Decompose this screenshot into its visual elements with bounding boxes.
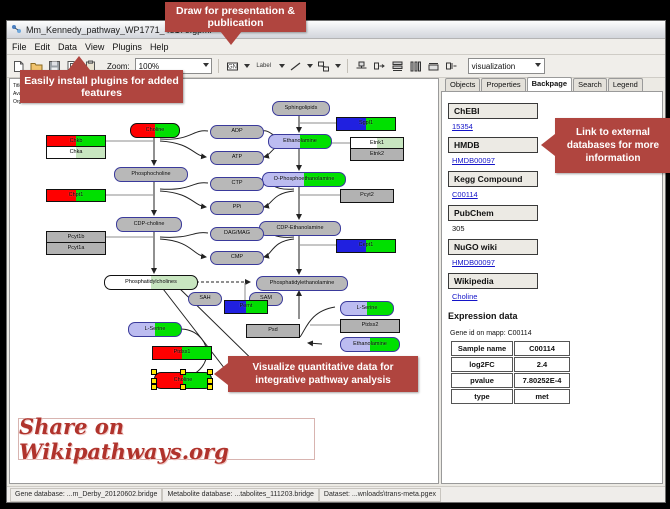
metabolite-node[interactable]: CMP (210, 251, 264, 265)
svg-text:GN: GN (228, 64, 237, 70)
side-panel-tabs: Objects Properties Backpage Search Legen… (441, 78, 663, 91)
align-icon[interactable] (354, 59, 369, 74)
metabolite-node[interactable]: CDP-Ethanolamine (259, 221, 341, 236)
line-icon[interactable] (288, 59, 303, 74)
gene-node[interactable]: Pcyt2 (340, 189, 394, 203)
metabolite-node[interactable]: Phosphocholine (114, 167, 188, 182)
expression-key: type (451, 389, 513, 404)
node-label: CDP-Ethanolamine (276, 226, 323, 232)
node-label: Psd (268, 328, 277, 334)
selection-handle[interactable] (151, 378, 157, 384)
database-header: Kegg Compound (448, 171, 538, 187)
metabolite-node[interactable]: Phosphatidylcholines (104, 275, 198, 290)
node-label: SAH (199, 296, 210, 302)
node-label: DAG/MAG (224, 231, 250, 237)
callout-links: Link to external databases for more info… (555, 118, 670, 173)
metabolite-node[interactable]: Phosphatidylethanolamine (256, 276, 348, 291)
node-label: Phosphatidylethanolamine (270, 281, 335, 287)
screenshot-root: Mm_Kennedy_pathway_WP1771_45176.gpml Fil… (0, 0, 670, 509)
table-row: pvalue7.80252E-4 (451, 373, 570, 388)
database-link[interactable]: C00114 (452, 190, 656, 199)
menu-item-plugins[interactable]: Plugins (112, 42, 142, 52)
gene-node[interactable]: Ptdss1 (152, 346, 212, 360)
gene-node[interactable]: Sgpl1 (336, 117, 396, 131)
expression-table: Sample nameC00114log2FC2.4pvalue7.80252E… (450, 340, 571, 405)
node-label: Cept1 (359, 243, 374, 249)
bring-front-icon[interactable] (444, 59, 459, 74)
metabolite-node[interactable]: SAH (188, 292, 222, 306)
expression-value: met (514, 389, 570, 404)
expression-value: 7.80252E-4 (514, 373, 570, 388)
metabolite-node[interactable]: Choline (130, 123, 180, 138)
metabolite-node[interactable]: L-Serine (128, 322, 182, 337)
database-link[interactable]: Choline (452, 292, 656, 301)
chevron-down-icon[interactable] (335, 64, 341, 68)
status-metabolite-database: Metabolite database: ...tabolites_111203… (162, 488, 318, 502)
node-label: O-Phosphoethanolamine (274, 177, 335, 183)
gene-node[interactable]: Cept1 (336, 239, 396, 253)
node-label: Sphingolipids (285, 106, 318, 112)
node-label: CTP (232, 181, 243, 187)
metabolite-node[interactable]: Ethanolamine (340, 337, 400, 352)
node-label: L-Serine (145, 327, 166, 333)
expression-value: C00114 (514, 341, 570, 356)
visualization-value: visualization (472, 62, 516, 71)
status-gene-database: Gene database: ...m_Derby_20120602.bridg… (10, 488, 162, 502)
database-value: 305 (452, 224, 656, 233)
toolbar-separator (347, 59, 348, 73)
metabolite-node[interactable]: O-Phosphoethanolamine (262, 172, 346, 187)
node-label: Phosphocholine (131, 172, 170, 178)
expression-value: 2.4 (514, 357, 570, 372)
node-label: Chka (70, 150, 83, 156)
menu-item-file[interactable]: File (12, 42, 27, 52)
table-row: log2FC2.4 (451, 357, 570, 372)
group-icon[interactable] (372, 59, 387, 74)
node-label: Ethanolamine (353, 342, 387, 348)
label-icon[interactable]: Label (253, 59, 275, 74)
toolbar-separator (218, 59, 219, 73)
stack-icon[interactable] (390, 59, 405, 74)
node-label: Phosphatidylcholines (125, 280, 177, 286)
expression-key: Sample name (451, 341, 513, 356)
gene-node[interactable]: Etnk2 (350, 148, 404, 161)
selection-handle[interactable] (180, 384, 186, 390)
metabolite-node[interactable]: DAG/MAG (210, 227, 264, 241)
metabolite-node[interactable]: L-Serine (340, 301, 394, 316)
gene-node[interactable]: Pcyt1a (46, 242, 106, 255)
node-label: Etnk2 (370, 152, 384, 158)
node-label: Choline (146, 128, 165, 134)
selection-handle[interactable] (207, 384, 213, 390)
order-icon[interactable] (426, 59, 441, 74)
expression-data-heading: Expression data (448, 311, 656, 321)
node-label: ATP (232, 155, 242, 161)
chevron-down-icon (203, 63, 209, 67)
chevron-down-icon (535, 63, 541, 67)
node-label: SAM (260, 296, 272, 302)
database-header: ChEBI (448, 103, 538, 119)
callout-links-arrow-icon (541, 134, 555, 156)
database-header: HMDB (448, 137, 538, 153)
node-label: Etnk1 (370, 141, 384, 147)
node-label: PPi (233, 205, 242, 211)
metabolite-node[interactable]: PPi (210, 201, 264, 215)
callout-visualize: Visualize quantitative data for integrat… (228, 356, 418, 392)
node-label: CDP-choline (134, 222, 165, 228)
gene-node[interactable]: Chpt1 (46, 189, 106, 202)
node-label: Pcyt2 (360, 193, 374, 199)
node-label: Pcyt1b (68, 235, 85, 241)
node-label: Chpt1 (69, 193, 84, 199)
metabolite-node[interactable]: ADP (210, 125, 264, 139)
selection-handle[interactable] (207, 378, 213, 384)
node-label: CMP (231, 255, 243, 261)
selection-handle[interactable] (151, 369, 157, 375)
node-label: ADP (231, 129, 242, 135)
table-row: Sample nameC00114 (451, 341, 570, 356)
gene-node[interactable]: Pemt (224, 300, 268, 314)
menu-bar: File Edit Data View Plugins Help (7, 39, 665, 55)
database-header: NuGO wiki (448, 239, 538, 255)
title-bar: Mm_Kennedy_pathway_WP1771_45176.gpml (7, 21, 665, 39)
chevron-down-icon[interactable] (307, 64, 313, 68)
metabolite-node[interactable]: CTP (210, 177, 264, 191)
callout-draw: Draw for presentation & publication (165, 2, 306, 32)
gene-id-line: Gene id on mapp: C00114 (450, 330, 656, 337)
status-bar: Gene database: ...m_Derby_20120602.bridg… (7, 486, 665, 502)
menu-item-edit[interactable]: Edit (35, 42, 51, 52)
node-label: Pemt (240, 304, 253, 310)
status-dataset: Dataset: ...wnloads\trans-meta.pgex (319, 488, 441, 502)
table-row: typemet (451, 389, 570, 404)
node-label: Ethanolamine (283, 139, 317, 145)
callout-plugins-arrow-icon (68, 56, 90, 70)
tab-objects[interactable]: Objects (445, 78, 480, 91)
node-label: Ptdss2 (362, 323, 379, 329)
node-label: Chkb (70, 139, 83, 145)
shape-icon[interactable] (316, 59, 331, 74)
metabolite-node[interactable]: CDP-choline (116, 217, 182, 232)
node-label: Ptdss1 (174, 350, 191, 356)
selection-handle[interactable] (180, 369, 186, 375)
node-label: Pcyt1a (68, 246, 85, 252)
chevron-down-icon[interactable] (244, 64, 250, 68)
tab-backpage[interactable]: Backpage (527, 77, 572, 91)
node-label: Sgpl1 (359, 121, 373, 127)
database-header: Wikipedia (448, 273, 538, 289)
callout-plugins: Easily install plugins for added feature… (20, 70, 183, 103)
database-link[interactable]: HMDB00097 (452, 258, 656, 267)
datanode-icon[interactable]: GN (225, 59, 240, 74)
metabolite-node[interactable]: Ethanolamine (268, 134, 332, 149)
callout-draw-arrow-icon (220, 31, 242, 45)
expression-key: log2FC (451, 357, 513, 372)
menu-item-data[interactable]: Data (58, 42, 77, 52)
node-label: L-Serine (357, 306, 378, 312)
selection-handle[interactable] (207, 369, 213, 375)
expression-key: pvalue (451, 373, 513, 388)
menu-item-view[interactable]: View (85, 42, 104, 52)
tab-search[interactable]: Search (573, 78, 607, 91)
tab-legend[interactable]: Legend (608, 78, 643, 91)
visualization-combobox[interactable]: visualization (468, 58, 545, 74)
menu-item-help[interactable]: Help (150, 42, 169, 52)
distribute-icon[interactable] (408, 59, 423, 74)
metabolite-node[interactable]: ATP (210, 151, 264, 165)
node-label: Choline (174, 378, 193, 384)
selection-handle[interactable] (151, 384, 157, 390)
callout-share: Share on Wikipathways.org (18, 418, 315, 460)
gene-node[interactable]: Ptdss2 (340, 319, 400, 333)
pathvisio-icon (11, 24, 22, 35)
tab-properties[interactable]: Properties (481, 78, 525, 91)
gene-node[interactable]: Chka (46, 146, 106, 159)
chevron-down-icon[interactable] (279, 64, 285, 68)
gene-node[interactable]: Psd (246, 324, 300, 338)
callout-visualize-arrow-icon (214, 363, 228, 385)
share-text: Share on Wikipathways.org (19, 414, 314, 464)
database-header: PubChem (448, 205, 538, 221)
metabolite-node[interactable]: Sphingolipids (272, 101, 330, 116)
